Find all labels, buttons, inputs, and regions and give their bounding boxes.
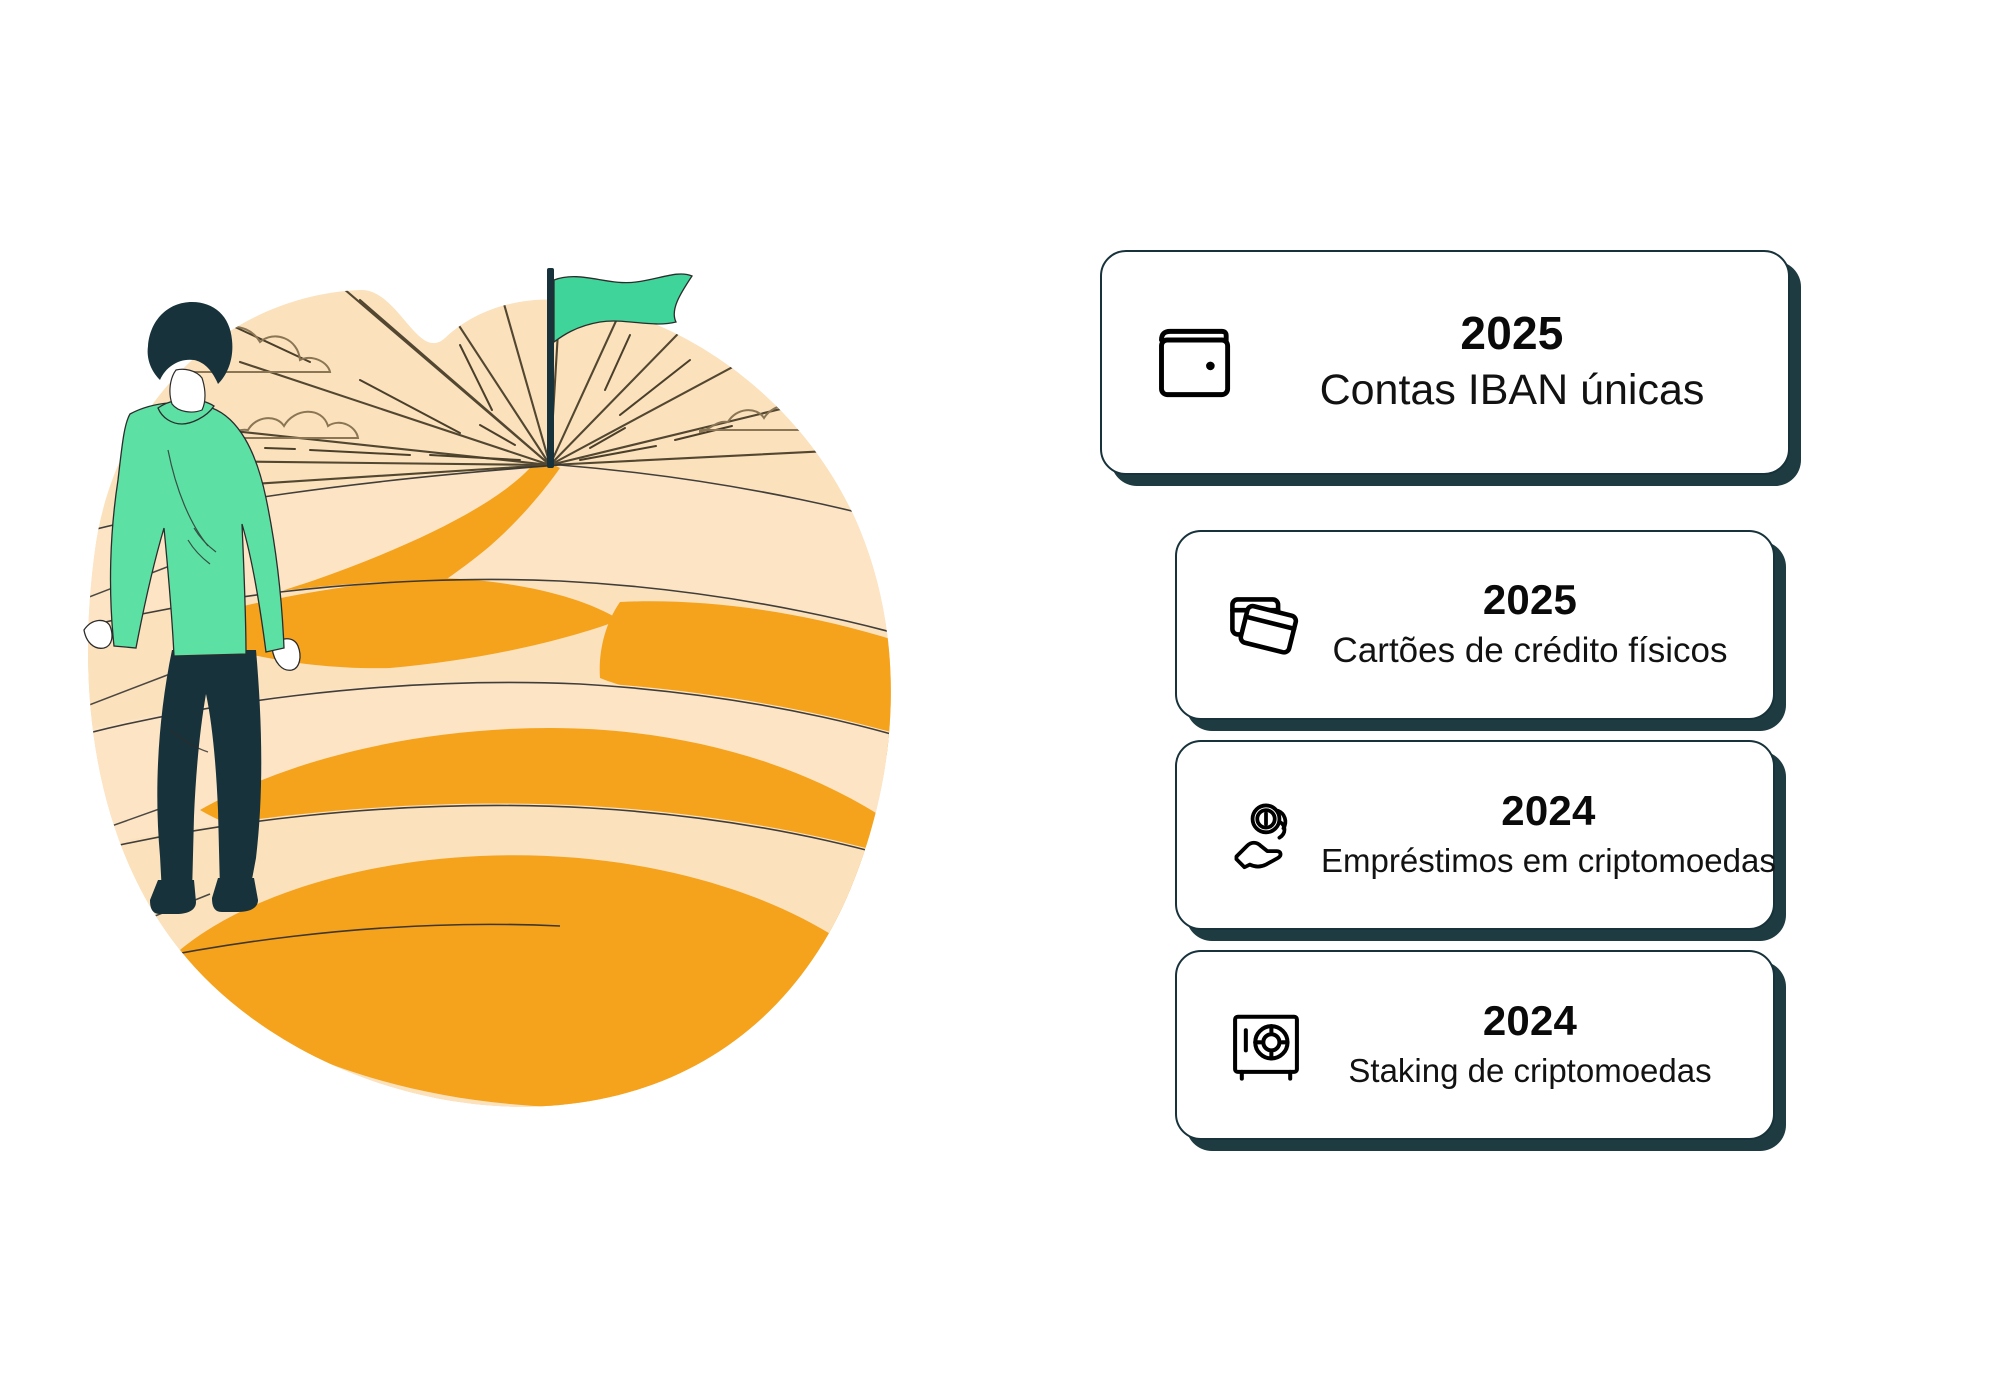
credit-cards-icon xyxy=(1211,582,1321,668)
card-year: 2025 xyxy=(1460,310,1563,356)
card-year: 2024 xyxy=(1501,790,1595,832)
card-text-group: 2025 Cartões de crédito físicos xyxy=(1321,579,1739,671)
wallet-icon xyxy=(1136,317,1256,409)
card-label: Cartões de crédito físicos xyxy=(1333,631,1728,671)
timeline-card-list: 2025 Contas IBAN únicas 2025 Cartões de … xyxy=(1100,250,1940,1170)
timeline-card-credit-cards[interactable]: 2025 Cartões de crédito físicos xyxy=(1175,530,1775,720)
card-text-group: 2024 Empréstimos em criptomoedas xyxy=(1321,790,1776,880)
card-label: Staking de criptomoedas xyxy=(1348,1052,1711,1090)
roadmap-page: 2025 Contas IBAN únicas 2025 Cartões de … xyxy=(0,0,2000,1400)
card-label: Empréstimos em criptomoedas xyxy=(1321,842,1776,880)
hero-illustration xyxy=(60,250,960,1170)
timeline-card-crypto-loans[interactable]: 2024 Empréstimos em criptomoedas xyxy=(1175,740,1775,930)
card-year: 2024 xyxy=(1483,1000,1577,1042)
safe-vault-icon xyxy=(1211,1002,1321,1088)
card-text-group: 2024 Staking de criptomoedas xyxy=(1321,1000,1739,1090)
hand-coins-icon xyxy=(1211,792,1321,878)
cloud-top xyxy=(390,250,514,260)
card-year: 2025 xyxy=(1483,579,1577,621)
card-text-group: 2025 Contas IBAN únicas xyxy=(1270,310,1754,415)
timeline-card-crypto-staking[interactable]: 2024 Staking de criptomoedas xyxy=(1175,950,1775,1140)
timeline-card-iban[interactable]: 2025 Contas IBAN únicas xyxy=(1100,250,1790,475)
card-label: Contas IBAN únicas xyxy=(1320,366,1705,415)
